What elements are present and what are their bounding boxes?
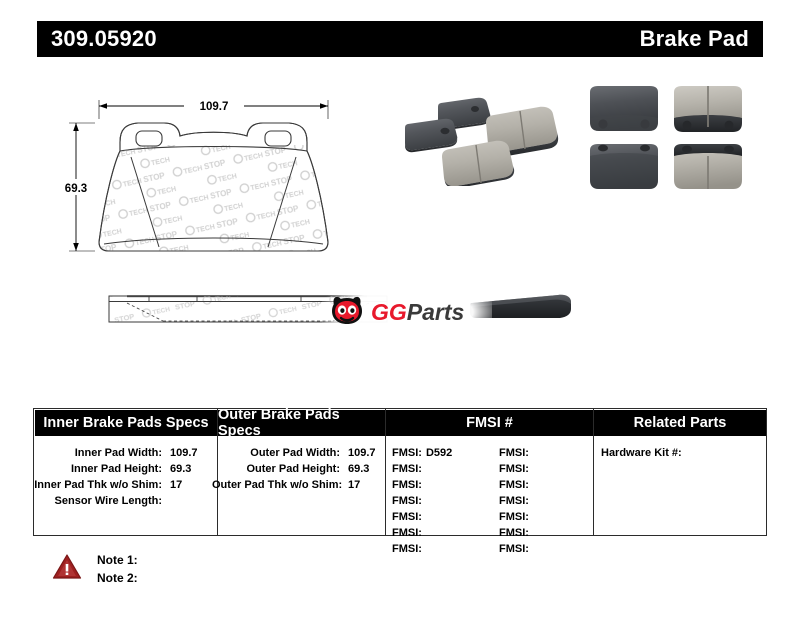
spec-inner-pad-thickness: Inner Pad Thk w/o Shim:: [34, 480, 162, 491]
fmsi-row: FMSI:: [499, 448, 533, 459]
fmsi-row: FMSI:: [499, 528, 533, 539]
fmsi-row: FMSI:: [392, 496, 426, 507]
notes-area: Note 1: Note 2:: [52, 550, 312, 590]
fmsi-row: FMSI:: [499, 544, 533, 555]
fmsi-row: FMSI:: [499, 464, 533, 475]
part-number: 309.05920: [51, 28, 157, 50]
page-title: Brake Pad: [640, 28, 749, 50]
related-part-hardware-kit: Hardware Kit #:: [601, 448, 686, 459]
spec-sensor-wire-length: Sensor Wire Length:: [42, 496, 162, 507]
specifications-table: Inner Brake Pads Specs Outer Brake Pads …: [33, 408, 767, 536]
spec-inner-pad-width: Inner Pad Width:: [42, 448, 162, 459]
spec-sensor-wire-length-value: [166, 496, 170, 507]
fmsi-row: FMSI:D592: [392, 448, 452, 459]
table-header-inner-specs: Inner Brake Pads Specs: [35, 410, 217, 436]
fmsi-row: FMSI:: [392, 528, 426, 539]
warning-triangle-icon: [52, 553, 82, 580]
product-photo-angled-group: [398, 76, 578, 186]
header-bar: 309.05920 Brake Pad: [37, 21, 763, 57]
spec-outer-pad-height-value: 69.3: [344, 464, 369, 475]
spec-outer-pad-thickness-value: 17: [344, 480, 360, 491]
fmsi-row: FMSI:: [392, 464, 426, 475]
fmsi-row: FMSI:: [499, 480, 533, 491]
spec-inner-pad-thickness-value: 17: [166, 480, 182, 491]
table-header-related-parts: Related Parts: [594, 410, 766, 436]
fmsi-row: FMSI:: [499, 496, 533, 507]
technical-drawing-front-view: STOP TECH STOP TECH: [60, 95, 380, 280]
spec-outer-pad-width-value: 109.7: [344, 448, 376, 459]
ggparts-mascot-icon: [330, 295, 364, 330]
table-header-outer-specs: Outer Brake Pads Specs: [218, 410, 385, 436]
spec-outer-pad-width: Outer Pad Width:: [220, 448, 340, 459]
width-dimension-label: 109.7: [200, 101, 229, 113]
spec-inner-pad-height: Inner Pad Height:: [42, 464, 162, 475]
note-1: Note 1:: [97, 554, 138, 566]
spec-inner-pad-width-value: 109.7: [166, 448, 198, 459]
fmsi-row: FMSI:: [499, 512, 533, 523]
fmsi-row: FMSI:: [392, 512, 426, 523]
fmsi-row: FMSI:: [392, 480, 426, 491]
ggparts-brand-primary: GG: [371, 299, 407, 325]
spec-outer-pad-thickness: Outer Pad Thk w/o Shim:: [212, 480, 340, 491]
height-dimension-label: 69.3: [65, 183, 87, 195]
ggparts-brand-secondary: Parts: [407, 299, 465, 325]
spec-outer-pad-height: Outer Pad Height:: [220, 464, 340, 475]
ggparts-watermark: GGParts: [322, 284, 492, 340]
spec-inner-pad-height-value: 69.3: [166, 464, 191, 475]
table-header-fmsi: FMSI #: [386, 410, 593, 436]
note-2: Note 2:: [97, 572, 138, 584]
fmsi-row: FMSI:: [392, 544, 426, 555]
product-photo-flatlay-group: [578, 78, 760, 198]
